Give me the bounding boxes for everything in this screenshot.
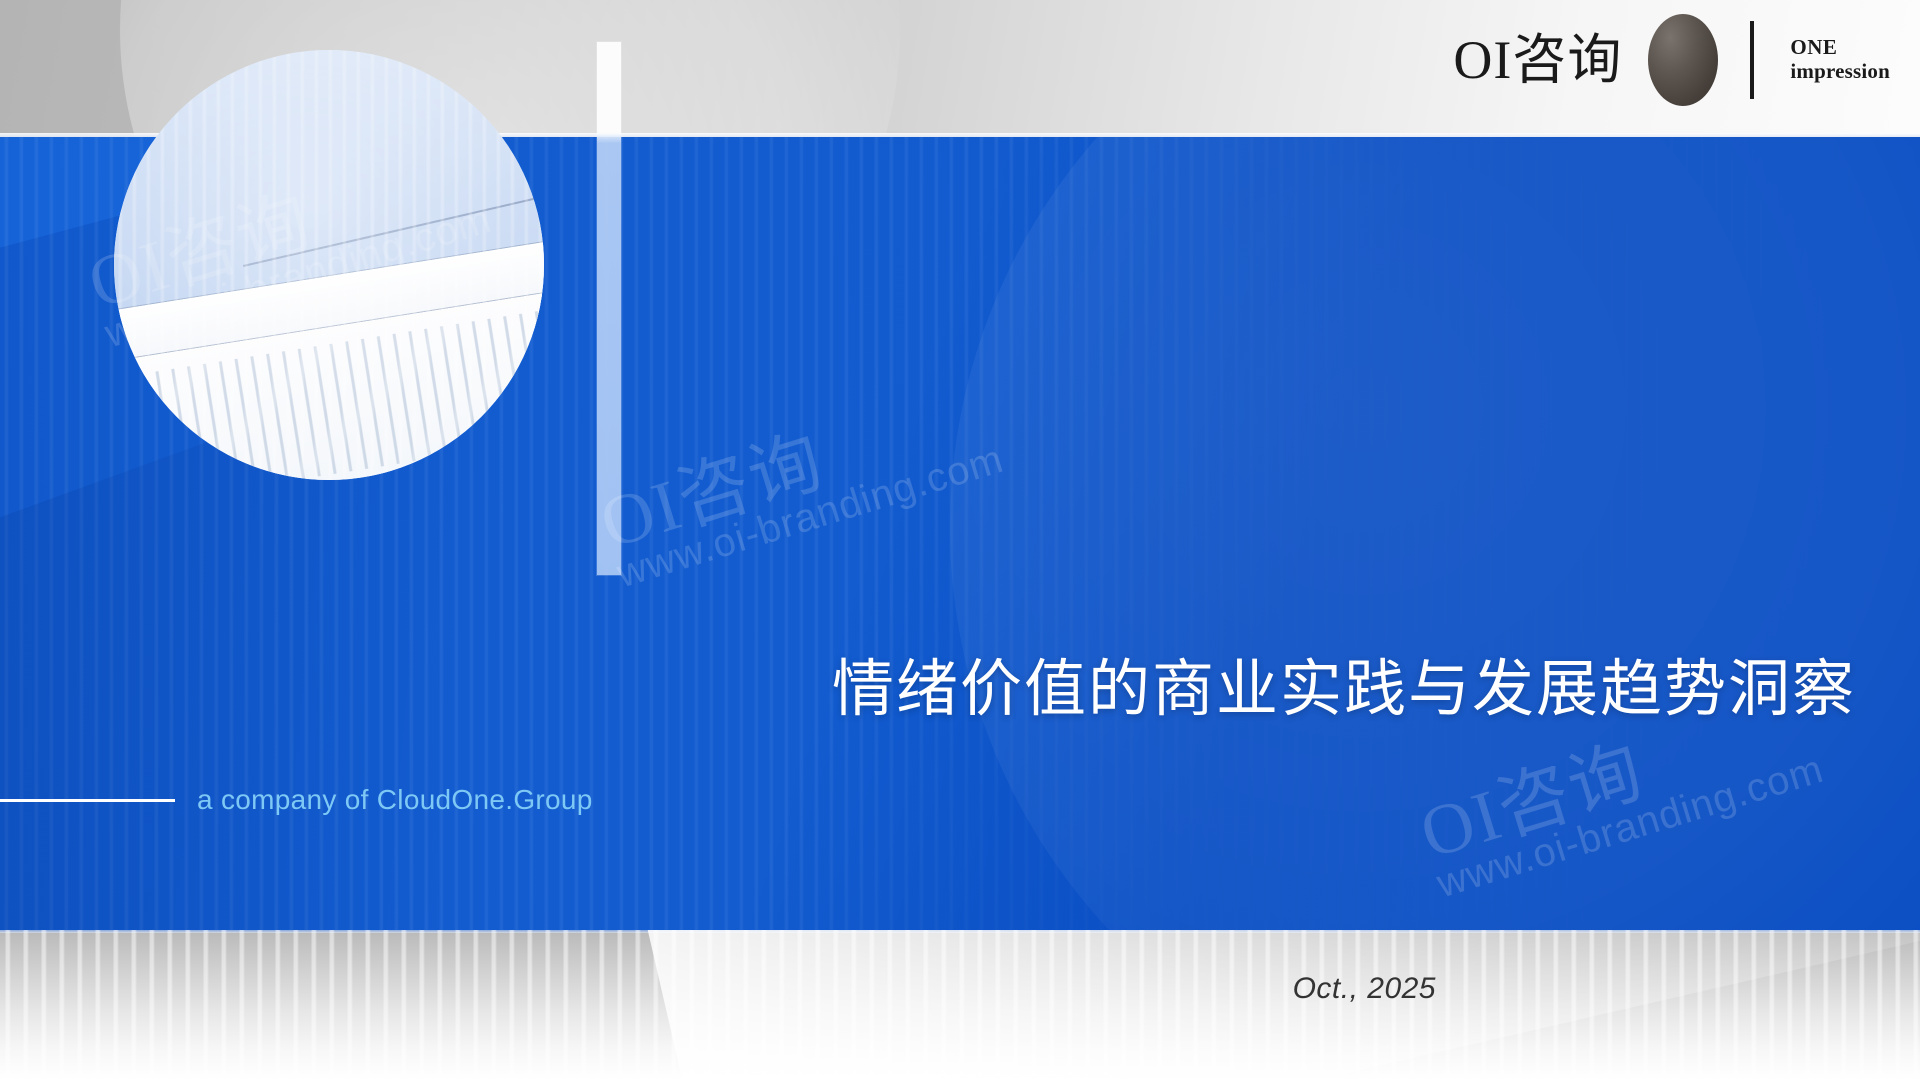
hero-orb-highlight xyxy=(950,137,1920,930)
brand-logo[interactable]: OI咨询 ONE impression xyxy=(1453,14,1890,106)
logo-divider xyxy=(1750,21,1754,99)
hero-circular-photo xyxy=(114,50,544,480)
logo-english-wordmark: ONE impression xyxy=(1790,36,1890,83)
slide-subtitle: a company of CloudOne.Group xyxy=(0,784,760,816)
subtitle-text: a company of CloudOne.Group xyxy=(197,784,593,816)
photo-vignette xyxy=(114,50,544,480)
logo-ellipse-icon xyxy=(1648,14,1718,106)
logo-chinese-wordmark: OI咨询 xyxy=(1453,33,1622,87)
slide-date: Oct., 2025 xyxy=(1293,972,1436,1006)
slide-title: 情绪价值的商业实践与发展趋势洞察 xyxy=(0,655,1856,723)
subtitle-rule xyxy=(0,799,175,802)
logo-english-line2: impression xyxy=(1790,60,1890,84)
presentation-slide: OI咨询 ONE impression OI咨询 www.oi-branding… xyxy=(0,0,1920,1080)
logo-english-line1: ONE xyxy=(1790,36,1890,60)
vertical-accent-bar xyxy=(597,42,621,575)
footer-band xyxy=(0,930,1920,1080)
